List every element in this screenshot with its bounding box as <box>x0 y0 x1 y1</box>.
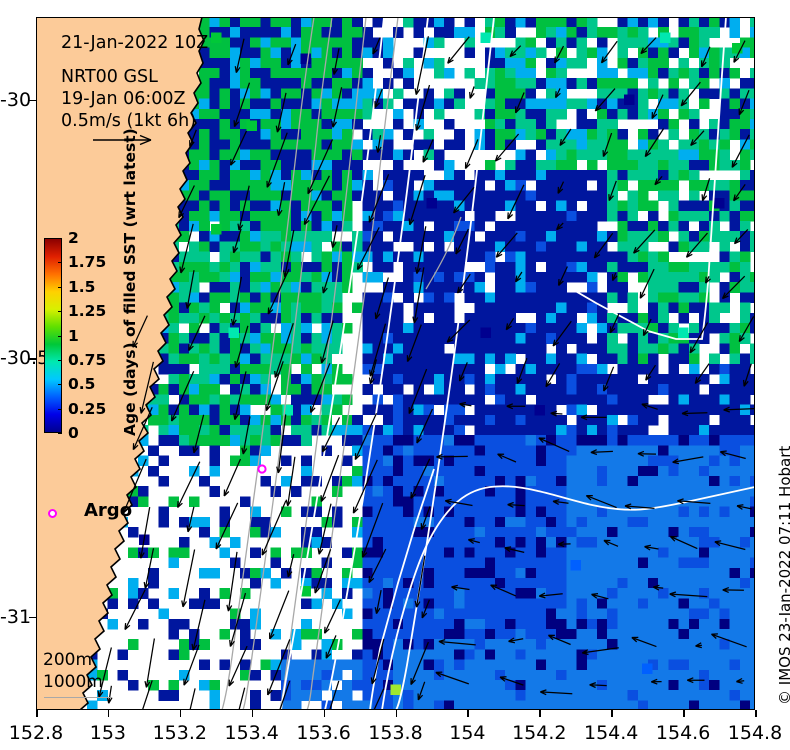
colorbar-tick <box>58 409 62 410</box>
colorbar-tick <box>58 360 62 361</box>
x-axis-tick-label: 153.6 <box>296 722 350 744</box>
x-axis-tick-label: 153.4 <box>224 722 278 744</box>
x-axis-tick-label: 154 <box>449 722 485 744</box>
colorbar-tick <box>58 238 62 239</box>
colorbar-tick <box>58 311 62 312</box>
x-axis-tick <box>396 710 398 717</box>
x-axis-tick-label: 153 <box>90 722 126 744</box>
x-axis-tick-label: 152.8 <box>9 722 63 744</box>
bathy-label-1000m: 1000m <box>43 672 103 692</box>
colorbar-tick <box>58 262 62 263</box>
colorbar-tick <box>58 384 62 385</box>
x-axis-tick-label: 154.2 <box>512 722 566 744</box>
colorbar-tick <box>58 336 62 337</box>
y-axis-tick-label: -30.5 <box>0 347 25 369</box>
x-axis-tick <box>539 710 541 717</box>
colorbar-tick-label: 1 <box>68 327 79 345</box>
y-axis-tick-label: -31 <box>0 606 25 628</box>
credit-text: © IMOS 23-Jan-2022 07:11 Hobart <box>776 446 790 705</box>
colorbar-tick <box>58 433 62 434</box>
colorbar-tick-label: 0 <box>68 424 79 442</box>
y-axis-tick-label: -30 <box>0 89 25 111</box>
x-axis-tick-label: 154.4 <box>584 722 638 744</box>
bathy-label-200m: 200m <box>43 650 92 670</box>
annotation-product-time: 19-Jan 06:00Z <box>61 89 186 109</box>
x-axis-tick <box>108 710 110 717</box>
colorbar-tick <box>58 287 62 288</box>
x-axis-tick <box>611 710 613 717</box>
colorbar-tick-label: 0.25 <box>68 400 106 418</box>
x-axis-tick-label: 154.8 <box>728 722 782 744</box>
x-axis-tick <box>683 710 685 717</box>
x-axis-tick-label: 154.6 <box>656 722 710 744</box>
x-axis-tick <box>36 710 38 717</box>
bathy-legend-line <box>44 697 112 698</box>
colorbar-tick-label: 0.5 <box>68 375 95 393</box>
sst-age-map-figure: 21-Jan-2022 10Z NRT00 GSL 19-Jan 06:00Z … <box>0 0 790 750</box>
colorbar-tick-label: 1.5 <box>68 278 95 296</box>
annotation-product: NRT00 GSL <box>61 67 158 87</box>
annotation-datetime: 21-Jan-2022 10Z <box>61 33 208 53</box>
x-axis-tick <box>467 710 469 717</box>
argo-legend-label: Argo <box>84 500 132 521</box>
x-axis-tick <box>324 710 326 717</box>
colorbar-tick-label: 1.25 <box>68 302 106 320</box>
argo-legend-marker-icon <box>48 509 57 518</box>
x-axis-tick-label: 153.2 <box>153 722 207 744</box>
colorbar-tick-label: 1.75 <box>68 253 106 271</box>
x-axis-tick <box>755 710 757 717</box>
colorbar-tick-label: 2 <box>68 229 79 247</box>
x-axis-tick <box>180 710 182 717</box>
colorbar-title: Age (days) of filled SST (wrt latest) <box>121 128 139 436</box>
colorbar-tick-label: 0.75 <box>68 351 106 369</box>
x-axis-tick-label: 153.8 <box>368 722 422 744</box>
x-axis-tick <box>252 710 254 717</box>
map-plot-area: 21-Jan-2022 10Z NRT00 GSL 19-Jan 06:00Z … <box>36 17 755 710</box>
argo-float-marker <box>258 465 265 472</box>
